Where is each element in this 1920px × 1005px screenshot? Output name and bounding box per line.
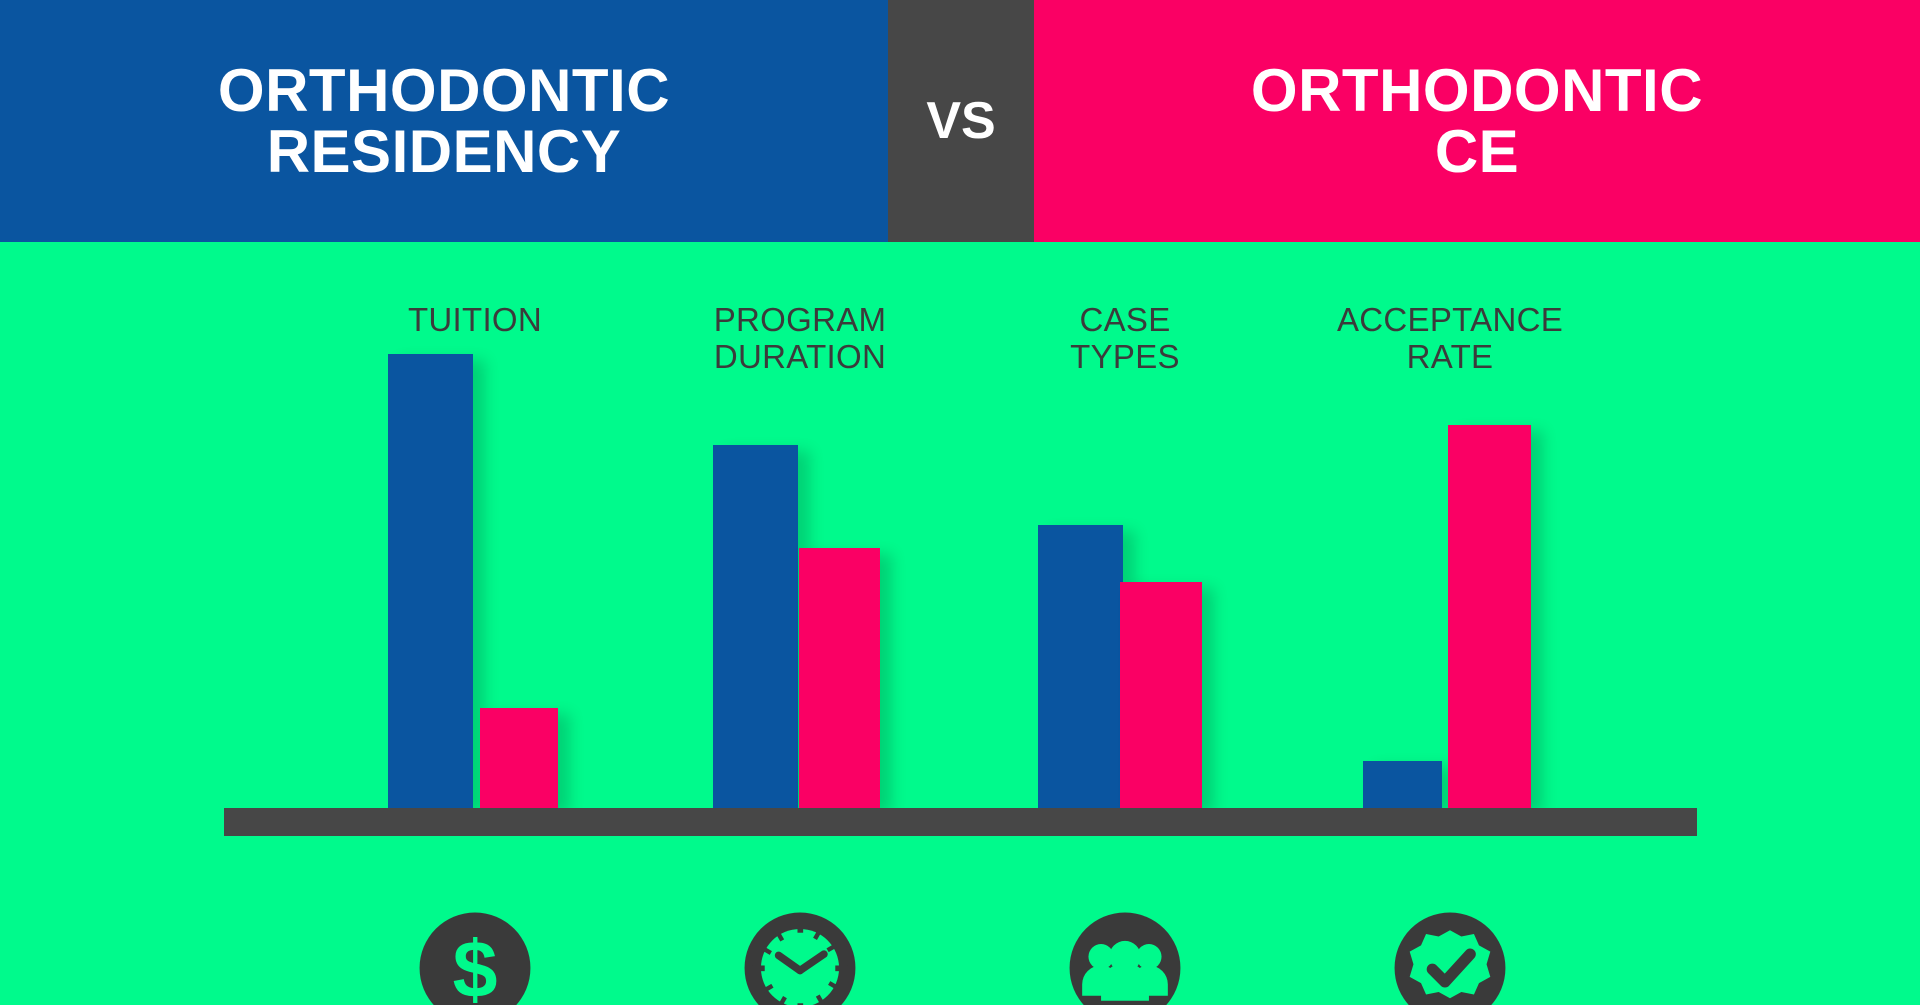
bar-residency-program-duration [713,445,798,808]
header-panel-vs: VS [888,0,1034,242]
vs-label: VS [926,91,995,151]
bar-ce-case-types [1120,582,1202,808]
header-panel-residency: ORTHODONTIC RESIDENCY [0,0,888,242]
clock-icon [737,905,863,1005]
bar-residency-acceptance-rate [1363,761,1442,808]
bar-chart: TUITION $ PROGRAM DURATION [0,242,1920,1005]
svg-text:$: $ [453,925,498,1005]
infographic-canvas: ORTHODONTIC RESIDENCY VS ORTHODONTIC CE … [0,0,1920,1005]
bar-residency-case-types [1038,525,1123,808]
bar-ce-tuition [480,708,558,808]
bar-ce-acceptance-rate [1448,425,1531,808]
chart-baseline [224,808,1697,836]
bar-group-acceptance-rate: ACCEPTANCE RATE [1325,242,1575,1005]
verified-badge-icon [1387,905,1513,1005]
header-title-ce: ORTHODONTIC CE [1233,60,1721,182]
header-band: ORTHODONTIC RESIDENCY VS ORTHODONTIC CE [0,0,1920,242]
bar-residency-tuition [388,354,473,808]
bar-ce-program-duration [799,548,880,808]
bar-group-tuition: TUITION $ [350,242,600,1005]
dollar-icon: $ [412,905,538,1005]
bar-group-program-duration: PROGRAM DURATION [675,242,925,1005]
header-title-residency: ORTHODONTIC RESIDENCY [200,60,688,182]
bar-pair-program-duration [675,248,925,808]
bar-group-case-types: CASE TYPES [1000,242,1250,1005]
header-panel-ce: ORTHODONTIC CE [1034,0,1920,242]
bar-pair-tuition [350,248,600,808]
people-icon [1062,905,1188,1005]
bar-pair-case-types [1000,248,1250,808]
bar-pair-acceptance-rate [1325,248,1575,808]
